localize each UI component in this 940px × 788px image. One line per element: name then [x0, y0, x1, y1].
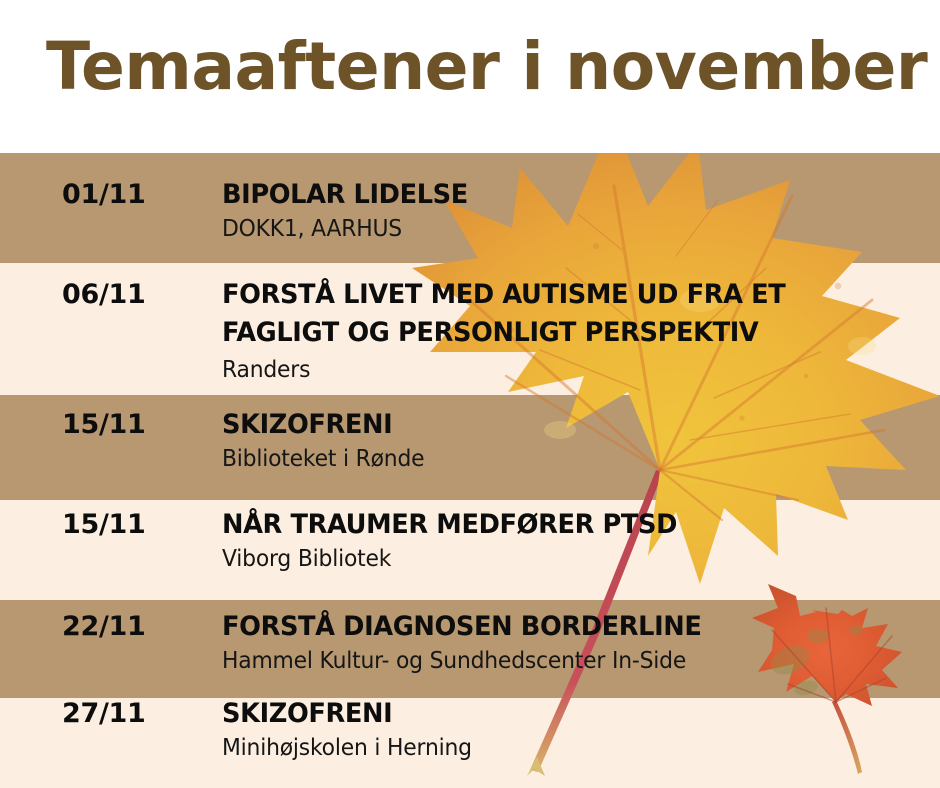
event-venue: Randers: [222, 355, 887, 386]
event-body: SKIZOFRENI Minihøjskolen i Herning: [222, 697, 922, 764]
event-venue: Hammel Kultur- og Sundhedscenter In-Side: [222, 646, 887, 677]
event-date: 15/11: [62, 508, 146, 542]
event-title-line: BIPOLAR LIDELSE: [222, 178, 887, 212]
event-venue: DOKK1, AARHUS: [222, 214, 887, 245]
event-title-line: FORSTÅ LIVET MED AUTISME UD FRA ET: [222, 278, 887, 312]
event-title-line: NÅR TRAUMER MEDFØRER PTSD: [222, 508, 887, 542]
event-date: 01/11: [62, 178, 146, 212]
event-venue: Viborg Bibliotek: [222, 544, 887, 575]
event-title-line: SKIZOFRENI: [222, 408, 887, 442]
event-title-line: SKIZOFRENI: [222, 697, 887, 731]
event-date: 06/11: [62, 278, 146, 312]
event-body: NÅR TRAUMER MEDFØRER PTSD Viborg Bibliot…: [222, 508, 922, 575]
event-body: FORSTÅ LIVET MED AUTISME UD FRA ET FAGLI…: [222, 278, 922, 386]
page-title: Temaaftener i november: [46, 28, 927, 106]
event-body: FORSTÅ DIAGNOSEN BORDERLINE Hammel Kultu…: [222, 610, 922, 677]
event-date: 22/11: [62, 610, 146, 644]
event-date: 27/11: [62, 697, 146, 731]
event-venue: Minihøjskolen i Herning: [222, 733, 887, 764]
event-body: SKIZOFRENI Biblioteket i Rønde: [222, 408, 922, 475]
event-body: BIPOLAR LIDELSE DOKK1, AARHUS: [222, 178, 922, 245]
event-title-line: FORSTÅ DIAGNOSEN BORDERLINE: [222, 610, 887, 644]
poster: Temaaftener i november 01/11 BIPOLAR LID…: [0, 0, 940, 788]
header: Temaaftener i november: [0, 0, 940, 153]
event-date: 15/11: [62, 408, 146, 442]
event-venue: Biblioteket i Rønde: [222, 444, 887, 475]
event-title-line: FAGLIGT OG PERSONLIGT PERSPEKTIV: [222, 316, 887, 350]
